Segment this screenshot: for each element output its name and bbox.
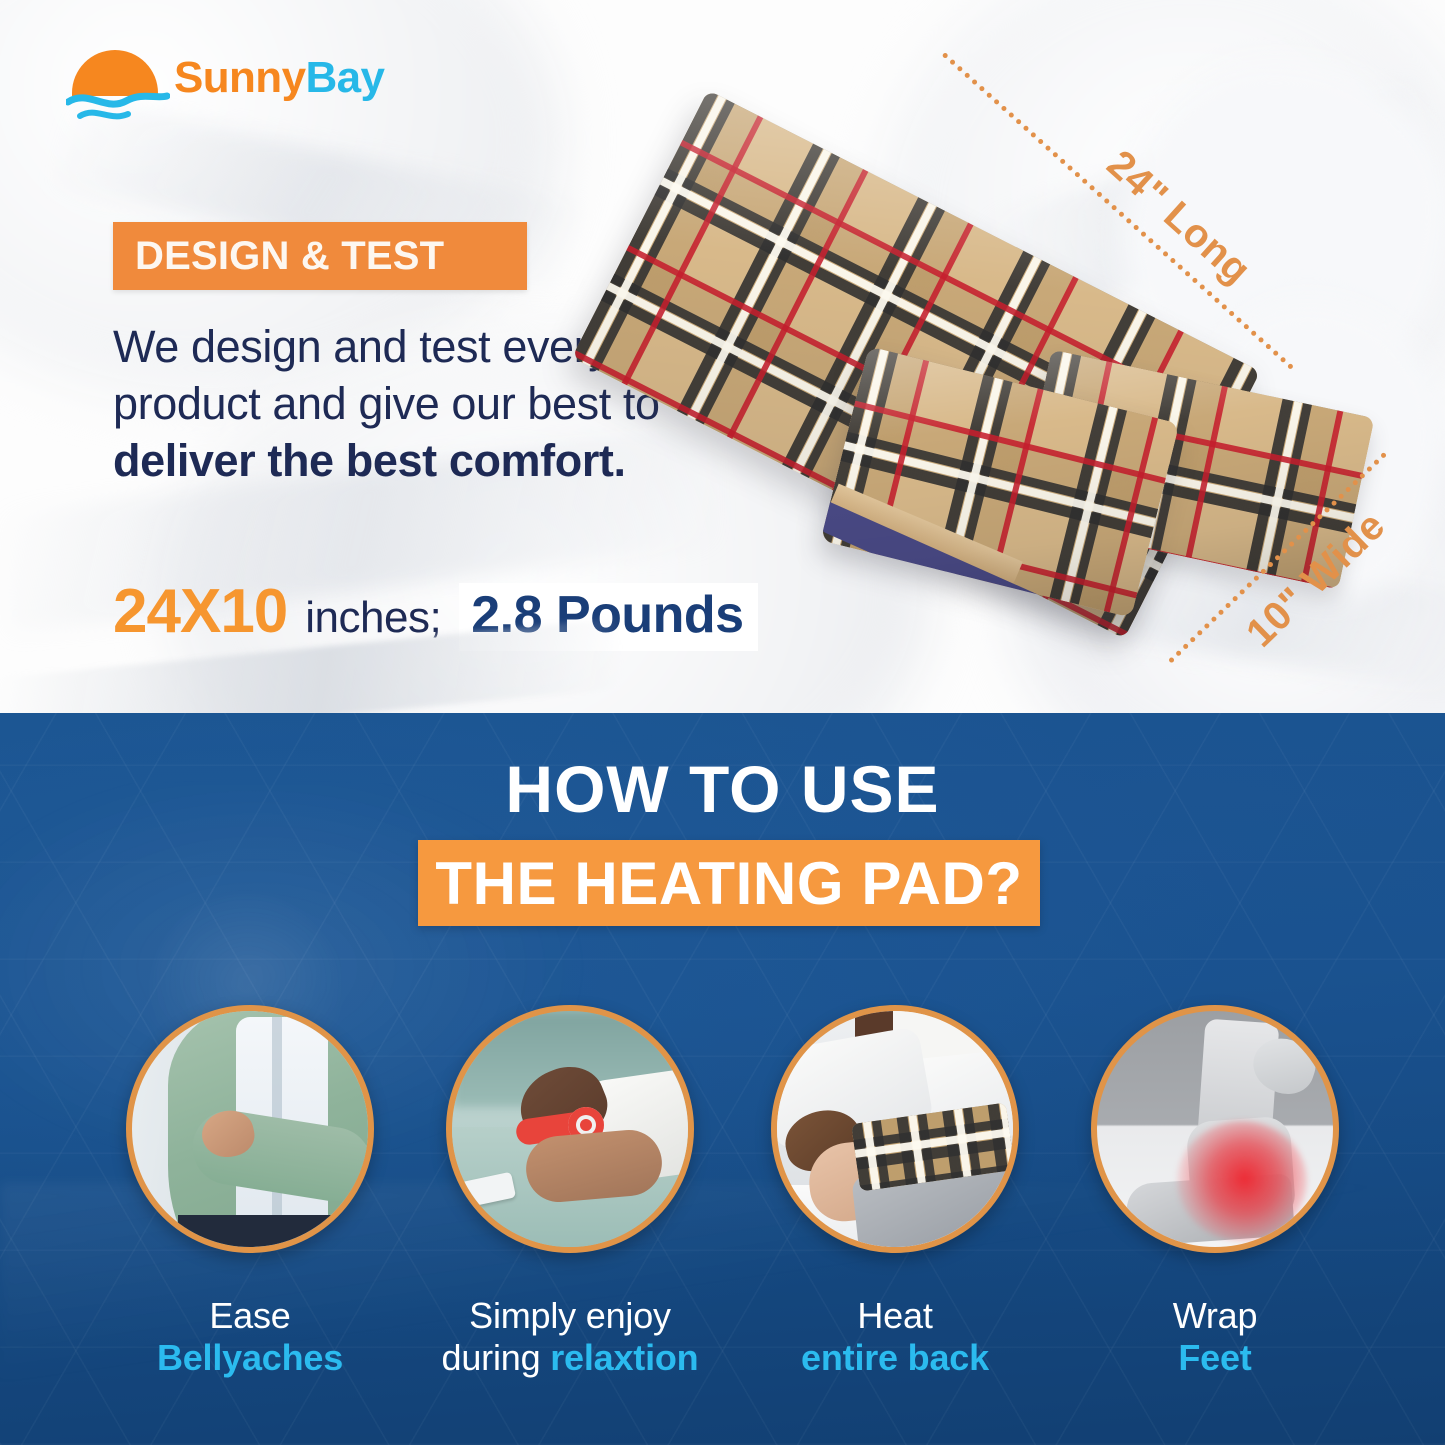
caption-line-2: during relaxtion — [420, 1337, 720, 1379]
caption-line-1: Ease — [100, 1295, 400, 1337]
description-bold-text: deliver the best comfort. — [113, 435, 626, 486]
photo-content — [1097, 1011, 1333, 1247]
caption-highlight: Feet — [1178, 1337, 1251, 1378]
caption-line-2: Feet — [1065, 1337, 1365, 1379]
how-to-use-headline: HOW TO USE — [0, 751, 1445, 827]
sunnybay-logo: SunnyBay — [66, 48, 376, 134]
use-case-caption: Simply enjoy during relaxtion — [420, 1295, 720, 1379]
heating-pad-banner: THE HEATING PAD? — [418, 840, 1040, 926]
use-case-caption: Wrap Feet — [1065, 1295, 1365, 1379]
use-case-caption: Heat entire back — [745, 1295, 1045, 1379]
spec-dimensions: 24X10 — [113, 576, 287, 647]
caption-highlight: Bellyaches — [157, 1337, 343, 1378]
caption-line-2: entire back — [745, 1337, 1045, 1379]
photo-content — [452, 1011, 688, 1247]
dark-pants — [178, 1215, 368, 1253]
wrapped-foot-pain-photo — [1091, 1005, 1339, 1253]
design-test-banner: DESIGN & TEST — [113, 222, 527, 290]
sun-icon — [72, 50, 158, 96]
description-plain-text: We design and test every product and giv… — [113, 321, 660, 429]
logo-text-bay: Bay — [305, 53, 384, 102]
caption-highlight: entire back — [801, 1337, 989, 1378]
use-case-feet[interactable]: Wrap Feet — [1065, 1005, 1365, 1379]
woman-heating-pad-on-back-photo — [771, 1005, 1019, 1253]
use-case-caption: Ease Bellyaches — [100, 1295, 400, 1379]
caption-line-2: Bellyaches — [100, 1337, 400, 1379]
use-case-relaxation[interactable]: Simply enjoy during relaxtion — [420, 1005, 720, 1379]
man-relaxing-on-grass-photo — [446, 1005, 694, 1253]
heating-pad-banner-label: THE HEATING PAD? — [435, 849, 1022, 918]
caption-line-1: Heat — [745, 1295, 1045, 1337]
logo-wordmark: SunnyBay — [174, 48, 384, 108]
caption-line-1: Wrap — [1065, 1295, 1365, 1337]
design-and-test-section: SunnyBay DESIGN & TEST We design and tes… — [0, 0, 1445, 715]
caption-plain: during — [442, 1337, 551, 1378]
photo-content — [777, 1011, 1013, 1247]
wave-icon — [66, 92, 166, 106]
logo-text-sunny: Sunny — [174, 53, 305, 102]
pain-glow-indicator — [1177, 1121, 1307, 1241]
woman-holding-stomach-photo — [126, 1005, 374, 1253]
use-case-entire-back[interactable]: Heat entire back — [745, 1005, 1045, 1379]
spec-unit-label: inches; — [305, 593, 441, 643]
caption-highlight: relaxtion — [550, 1337, 698, 1378]
photo-content — [132, 1011, 368, 1247]
use-case-bellyaches[interactable]: Ease Bellyaches — [100, 1005, 400, 1379]
design-test-banner-label: DESIGN & TEST — [135, 234, 444, 279]
caption-line-1: Simply enjoy — [420, 1295, 720, 1337]
